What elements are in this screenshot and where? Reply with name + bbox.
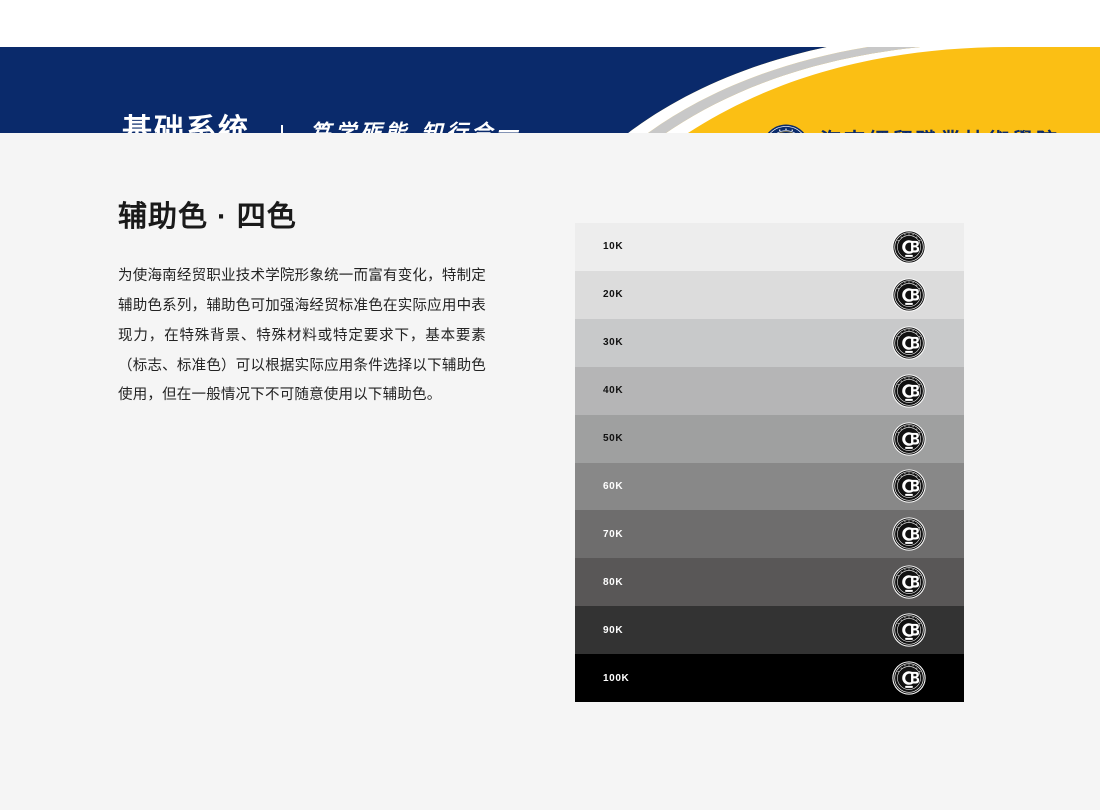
swatch-label: 80K <box>603 577 623 588</box>
swatch-row[interactable]: 50K <box>575 415 964 463</box>
college-name-cn: 海南經貿職業技術學院 <box>820 129 1060 133</box>
college-crest-mono-icon <box>892 469 926 503</box>
header-motto: 笃学砺能 知行合一 <box>310 122 521 134</box>
swatch-row[interactable]: 20K <box>575 271 964 319</box>
swatch-label: 30K <box>603 337 623 348</box>
swatch-label: 40K <box>603 385 623 396</box>
college-crest-mono-icon <box>892 565 926 599</box>
swatch-row[interactable]: 40K <box>575 367 964 415</box>
swatch-label: 50K <box>603 433 623 444</box>
college-crest-mono-icon <box>892 374 926 408</box>
swatch-row[interactable]: 30K <box>575 319 964 367</box>
swatch-row[interactable]: 100K <box>575 654 964 702</box>
swatch-label: 70K <box>603 529 623 540</box>
college-logo-lockup: 1984 海南經貿職業技術學院 Hainan College of Econom… <box>762 120 1082 133</box>
swatch-label: 100K <box>603 673 629 684</box>
college-crest-icon: 1984 <box>762 124 810 133</box>
swatch-row[interactable]: 80K <box>575 558 964 606</box>
swatch-row[interactable]: 90K <box>575 606 964 654</box>
section-description: 为使海南经贸职业技术学院形象统一而富有变化，特制定辅助色系列，辅助色可加强海经贸… <box>118 262 486 411</box>
college-crest-mono-icon <box>892 517 926 551</box>
section-title: 辅助色 · 四色 <box>118 200 297 235</box>
header-divider <box>281 125 283 133</box>
swatch-label: 90K <box>603 625 623 636</box>
swatch-row[interactable]: 70K <box>575 510 964 558</box>
college-crest-mono-icon <box>892 326 926 360</box>
swatch-row[interactable]: 60K <box>575 463 964 511</box>
college-crest-mono-icon <box>892 230 926 264</box>
top-white-strip <box>0 0 1100 47</box>
swatch-label: 20K <box>603 289 623 300</box>
brand-guideline-page: 基础系统 笃学砺能 知行合一 198 <box>0 0 1100 810</box>
college-name-block: 海南經貿職業技術學院 Hainan College of Economics a… <box>820 129 1060 133</box>
college-crest-mono-icon <box>892 278 926 312</box>
college-crest-mono-icon <box>892 422 926 456</box>
page-header: 基础系统 笃学砺能 知行合一 198 <box>0 47 1100 133</box>
swatch-label: 60K <box>603 481 623 492</box>
grayscale-swatch-panel: 10K20K30K40K50K60K70K80K90K100K <box>575 223 964 702</box>
college-crest-mono-icon <box>892 661 926 695</box>
swatch-row[interactable]: 10K <box>575 223 964 271</box>
college-crest-mono-icon <box>892 613 926 647</box>
header-title: 基础系统 <box>122 116 250 133</box>
swatch-label: 10K <box>603 241 623 252</box>
